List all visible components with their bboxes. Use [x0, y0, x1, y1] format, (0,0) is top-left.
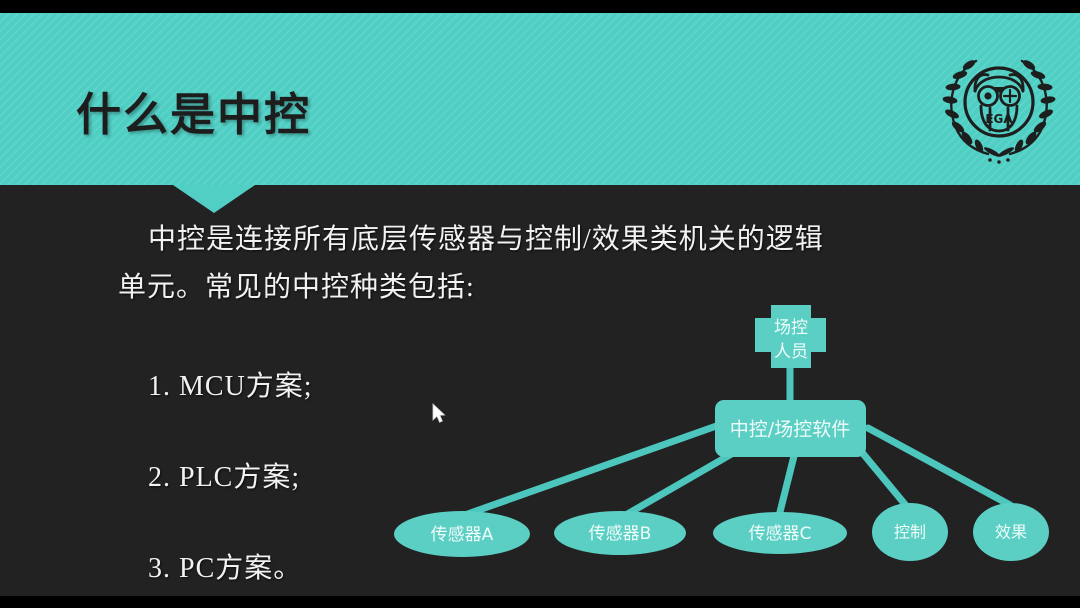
list-item: 1. MCU方案;	[148, 364, 313, 404]
list-item: 2. PLC方案;	[148, 455, 313, 495]
list-item-index: 2.	[148, 462, 171, 493]
sensor-b-label: 传感器B	[589, 524, 652, 544]
sensor-a-label: 传感器A	[431, 525, 494, 545]
operator-label-line-1: 场控	[774, 318, 808, 338]
slide-canvas: 什么是中控	[0, 0, 1080, 608]
edge-software-sensor-b	[624, 452, 735, 516]
edge-software-control	[860, 450, 908, 508]
sensor-c-label: 传感器C	[749, 524, 812, 544]
edge-software-sensor-a	[462, 424, 722, 516]
list-item-index: 1.	[148, 371, 171, 402]
diagram-node-sensor-a: 传感器A	[394, 511, 530, 557]
letterbox-top	[0, 0, 1080, 13]
diagram-node-effect: 效果	[973, 503, 1049, 561]
control-label: 控制	[894, 523, 926, 542]
diagram-node-sensor-b: 传感器B	[554, 511, 686, 555]
list-item-label: MCU方案;	[179, 371, 313, 402]
edge-software-sensor-c	[780, 452, 795, 512]
mouse-pointer-icon	[431, 403, 447, 430]
list-item-index: 3.	[148, 553, 171, 584]
list-item-label: PLC方案;	[179, 462, 300, 493]
diagram-node-control: 控制	[872, 503, 948, 561]
diagram-node-operator: 场控 人员	[755, 305, 826, 368]
list-item-label: PC方案。	[179, 553, 302, 584]
operator-label-line-2: 人员	[774, 342, 808, 362]
diagram-node-sensor-c: 传感器C	[713, 512, 847, 554]
body-paragraph: 中控是连接所有底层传感器与控制/效果类机关的逻辑 单元。常见的中控种类包括:	[118, 216, 908, 311]
paragraph-line-1: 中控是连接所有底层传感器与控制/效果类机关的逻辑	[118, 216, 908, 264]
effect-label: 效果	[995, 523, 1027, 542]
list-item: 3. PC方案。	[148, 546, 313, 586]
letterbox-bottom	[0, 596, 1080, 608]
solution-list: 1. MCU方案; 2. PLC方案; 3. PC方案。	[148, 364, 313, 608]
software-label: 中控/场控软件	[730, 419, 850, 441]
diagram-node-software: 中控/场控软件	[715, 400, 866, 457]
paragraph-line-2: 单元。常见的中控种类包括:	[118, 264, 908, 312]
edge-software-effect	[868, 428, 1010, 505]
